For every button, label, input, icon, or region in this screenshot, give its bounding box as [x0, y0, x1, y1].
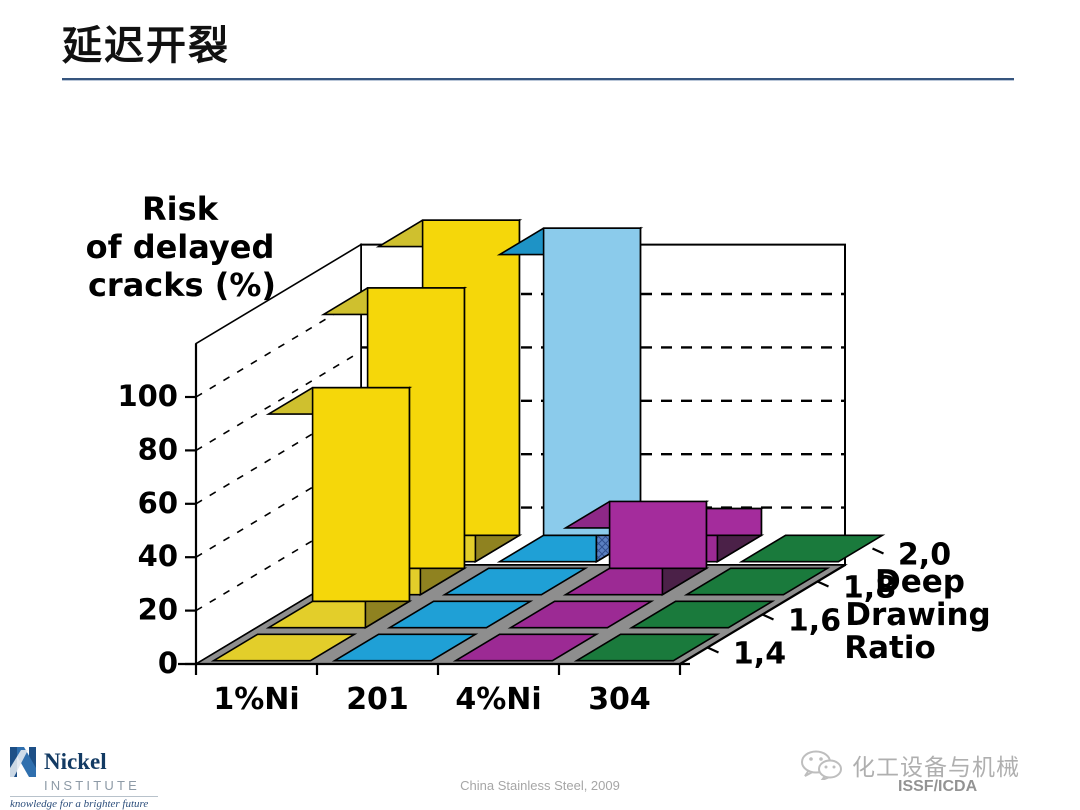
material-label-201: 201	[346, 682, 409, 717]
chart-canvas: 0204060801001%Ni2014%Ni304Material1,41,6…	[0, 120, 1080, 720]
value-tick-label-40: 40	[138, 539, 178, 573]
watermark-text: 化工设备与机械	[852, 748, 1020, 782]
z-axis-title-line2: Drawing	[845, 597, 990, 633]
depth-tick-1,4	[708, 648, 719, 653]
material-label-304: 304	[588, 682, 651, 717]
wechat-icon	[800, 750, 844, 780]
issf-icda-label: ISSF/ICDA	[898, 778, 977, 796]
chart-3d-bar: 0204060801001%Ni2014%Ni304Material1,41,6…	[0, 120, 1080, 720]
watermark-row: 化工设备与机械	[800, 748, 1070, 782]
page-title: 延迟开裂	[62, 20, 1022, 72]
value-tick-label-20: 20	[138, 593, 178, 627]
z-axis-title-line1: Deep	[875, 564, 965, 600]
material-label-4%Ni: 4%Ni	[455, 682, 541, 717]
value-tick-label-0: 0	[158, 646, 178, 680]
slide-root: 延迟开裂 0204060801001%Ni2014%Ni304Material1…	[0, 0, 1080, 810]
depth-tick-1,8	[818, 582, 829, 587]
bar-front-4%Ni-1,8	[610, 502, 707, 569]
y-axis-title-line3: cracks (%)	[88, 266, 276, 304]
logo-tagline: knowledge for a brighter future	[10, 798, 158, 810]
value-tick-label-60: 60	[138, 486, 178, 520]
z-axis-title-line3: Ratio	[844, 630, 936, 666]
title-block: 延迟开裂	[62, 20, 1022, 72]
title-divider	[62, 78, 1014, 81]
value-tick-label-80: 80	[138, 432, 178, 466]
value-tick-label-100: 100	[117, 379, 178, 413]
depth-label-1,4: 1,4	[733, 637, 786, 672]
y-axis-title-line1: Risk	[142, 190, 219, 228]
wechat-watermark: 化工设备与机械 ISSF/ICDA	[800, 748, 1070, 806]
logo-divider	[10, 796, 158, 797]
logo-row: Nickel	[8, 746, 158, 778]
depth-label-1,6: 1,6	[788, 604, 841, 639]
depth-tick-1,6	[763, 615, 774, 620]
logo-wordmark: Nickel	[44, 750, 107, 774]
bar-front-201-2,0	[544, 228, 641, 535]
material-label-1%Ni: 1%Ni	[213, 682, 299, 717]
nickel-n-icon	[8, 746, 38, 778]
y-axis-title-line2: of delayed	[86, 228, 275, 266]
depth-tick-2,0	[873, 549, 884, 554]
bar-front-1%Ni-1,6	[313, 388, 410, 602]
